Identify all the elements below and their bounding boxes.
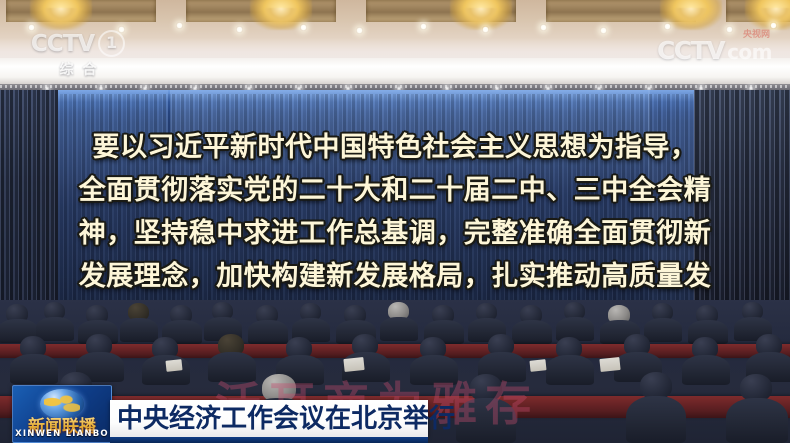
caption-line-4: 发展理念，加快构建新发展格局，扎实推动高质量发 (0, 255, 790, 298)
watermark-brand-text: CCTV (657, 36, 724, 65)
broadcast-screenshot: 沃耳商为雅存 要以习近平新时代中国特色社会主义思想为指导， 全面贯彻落实党的二十… (0, 0, 790, 443)
headline-bar: 中央经济工作会议在北京举行 (110, 400, 428, 437)
watermark-domain-text: com (727, 40, 772, 64)
caption-line-3: 神，坚持稳中求进工作总基调，完整准确全面贯彻新 (0, 212, 790, 255)
caption-text-block: 要以习近平新时代中国特色社会主义思想为指导， 全面贯彻落实党的二十大和二十届二中… (0, 126, 790, 298)
cctv-com-watermark: CCTV com 央视网 (657, 36, 772, 65)
channel-logo-bug: CCTV 1 综合 (24, 30, 132, 79)
channel-number-badge: 1 (98, 30, 125, 57)
program-logo: 新闻联播 XINWEN LIANBO (12, 385, 112, 443)
chandelier-icon (745, 0, 790, 30)
caption-line-2: 全面贯彻落实党的二十大和二十届二中、三中全会精 (0, 169, 790, 212)
channel-brand-text: CCTV (31, 31, 94, 57)
headline-underbar (110, 437, 428, 443)
program-name-en: XINWEN LIANBO (13, 429, 111, 439)
channel-logo-row: CCTV 1 (24, 30, 132, 57)
watermark-cn-text: 央视网 (743, 27, 770, 40)
headline-text: 中央经济工作会议在北京举行 (110, 406, 455, 432)
caption-line-1: 要以习近平新时代中国特色社会主义思想为指导， (0, 126, 790, 169)
chandelier-icon (450, 0, 512, 30)
channel-sub-label: 综合 (24, 59, 132, 79)
chandelier-icon (30, 0, 92, 30)
